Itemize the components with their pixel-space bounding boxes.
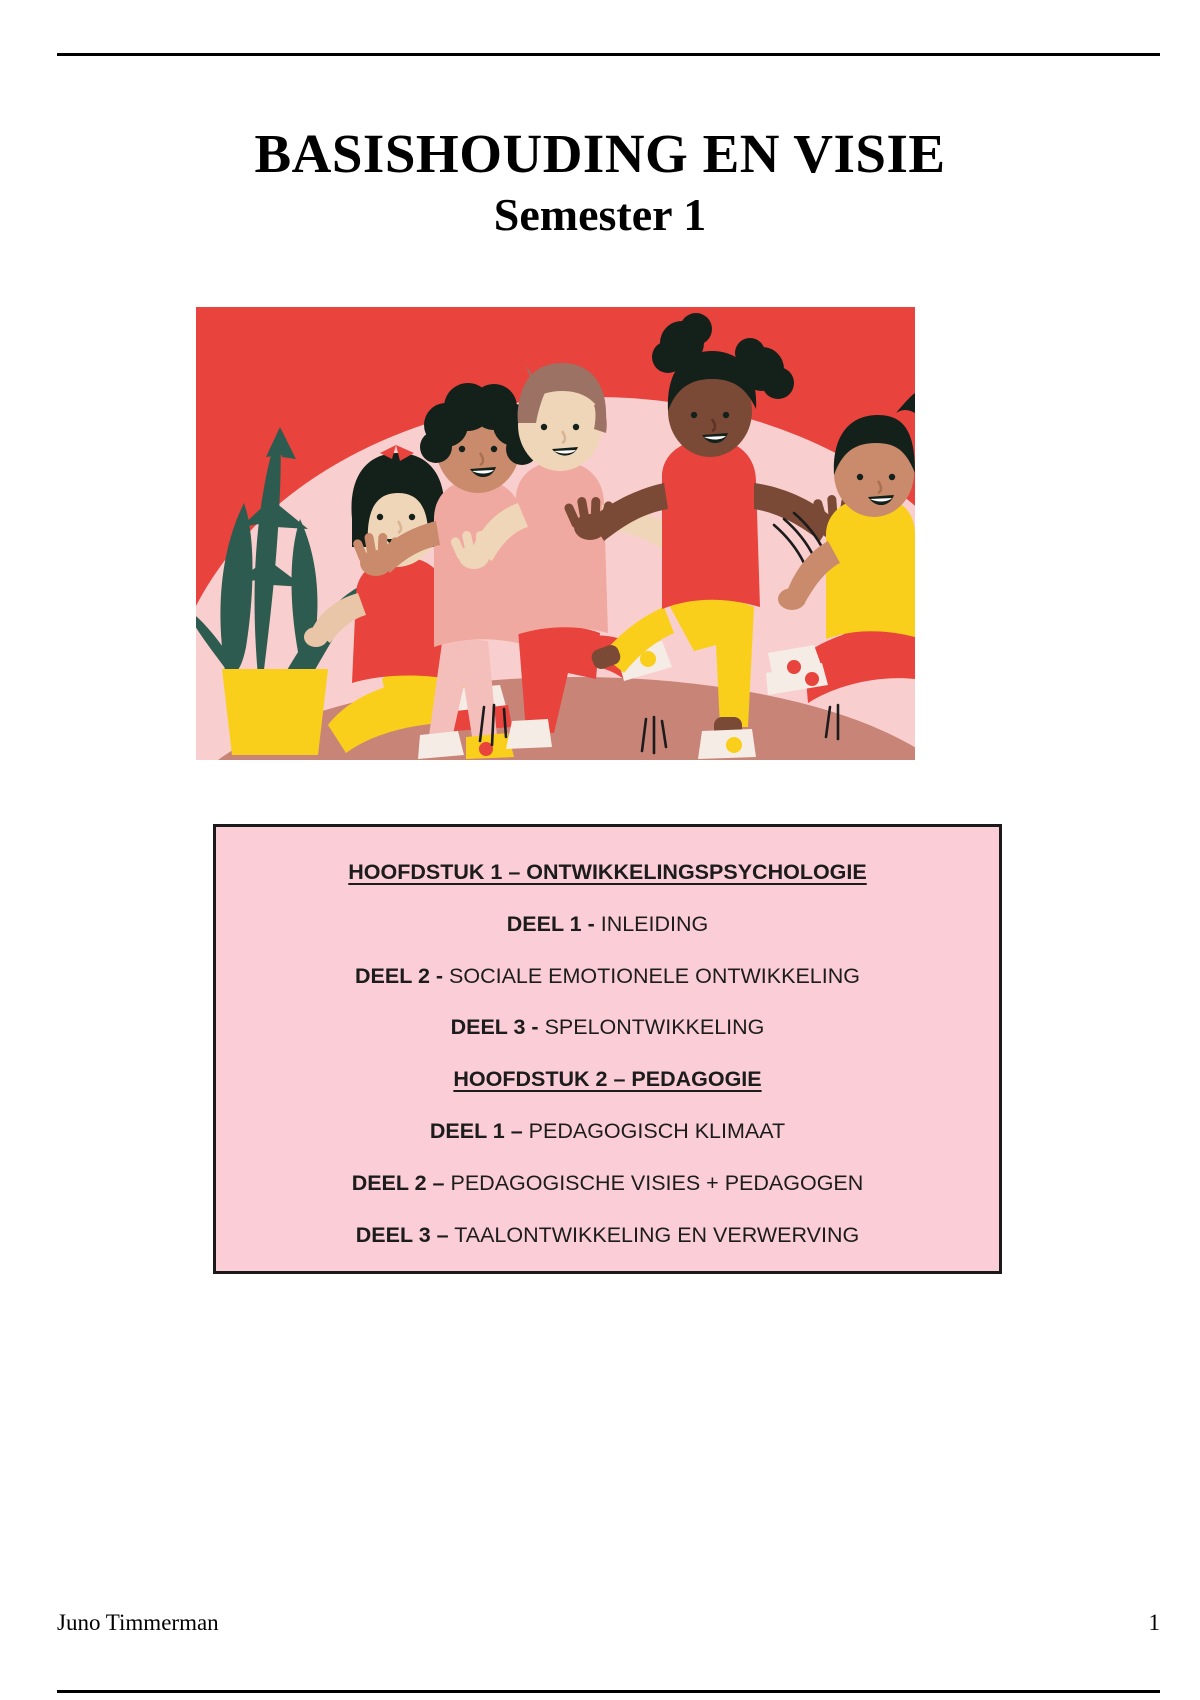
page-footer: Juno Timmerman 1 [57, 1610, 1160, 1636]
toc-item-h1-deel-1-text: INLEIDING [595, 912, 709, 936]
toc-item-h1-deel-3-label: DEEL 3 - [451, 1015, 539, 1039]
toc-item-h2-deel-2-text: PEDAGOGISCHE VISIES + PEDAGOGEN [445, 1171, 864, 1195]
contents-box: HOOFDSTUK 1 – ONTWIKKELINGSPSYCHOLOGIE D… [213, 824, 1002, 1274]
toc-item-h1-deel-2-label: DEEL 2 - [355, 964, 443, 988]
toc-item-h2-deel-1: DEEL 1 – PEDAGOGISCH KLIMAAT [216, 1119, 999, 1145]
page-title: BASISHOUDING EN VISIE [0, 125, 1200, 183]
toc-item-h2-deel-2: DEEL 2 – PEDAGOGISCHE VISIES + PEDAGOGEN [216, 1171, 999, 1197]
header-divider [57, 53, 1160, 56]
toc-chapter-2-label: HOOFDSTUK 2 – PEDAGOGIE [453, 1067, 761, 1091]
footer-divider [57, 1690, 1160, 1693]
children-dancing-illustration [196, 307, 915, 760]
title-block: BASISHOUDING EN VISIE Semester 1 [0, 125, 1200, 242]
toc-item-h1-deel-3: DEEL 3 - SPELONTWIKKELING [216, 1015, 999, 1041]
toc-item-h1-deel-3-text: SPELONTWIKKELING [539, 1015, 765, 1039]
toc-item-h2-deel-3-label: DEEL 3 – [356, 1223, 449, 1247]
toc-item-h2-deel-2-label: DEEL 2 – [352, 1171, 445, 1195]
illustration-svg [196, 307, 915, 760]
toc-item-h1-deel-1-label: DEEL 1 - [507, 912, 595, 936]
toc-chapter-1-label: HOOFDSTUK 1 – ONTWIKKELINGSPSYCHOLOGIE [348, 860, 866, 884]
toc-item-h1-deel-2-text: SOCIALE EMOTIONELE ONTWIKKELING [443, 964, 860, 988]
toc-item-h1-deel-2: DEEL 2 - SOCIALE EMOTIONELE ONTWIKKELING [216, 964, 999, 990]
page-subtitle: Semester 1 [0, 189, 1200, 242]
footer-author: Juno Timmerman [57, 1610, 219, 1636]
toc-item-h1-deel-1: DEEL 1 - INLEIDING [216, 912, 999, 938]
toc-item-h2-deel-3: DEEL 3 – TAALONTWIKKELING EN VERWERVING [216, 1223, 999, 1249]
toc-chapter-2: HOOFDSTUK 2 – PEDAGOGIE [216, 1067, 999, 1093]
toc-item-h2-deel-1-label: DEEL 1 – [430, 1119, 523, 1143]
toc-item-h2-deel-3-text: TAALONTWIKKELING EN VERWERVING [449, 1223, 860, 1247]
toc-item-h2-deel-1-text: PEDAGOGISCH KLIMAAT [523, 1119, 785, 1143]
document-page: BASISHOUDING EN VISIE Semester 1 [0, 0, 1200, 1700]
toc-chapter-1: HOOFDSTUK 1 – ONTWIKKELINGSPSYCHOLOGIE [216, 860, 999, 886]
footer-page-number: 1 [1149, 1610, 1161, 1636]
